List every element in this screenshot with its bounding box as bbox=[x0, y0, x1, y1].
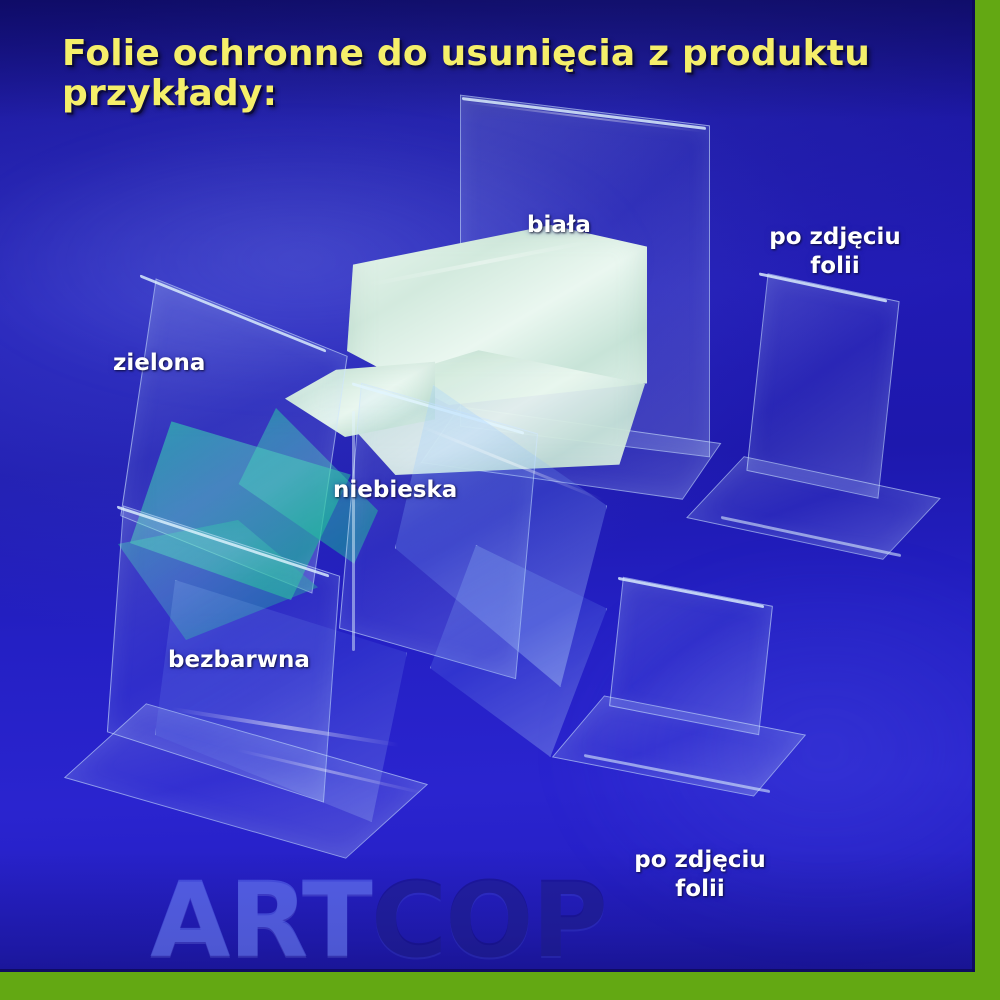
acrylic-base-plate bbox=[552, 695, 806, 796]
stand-blue-film bbox=[340, 375, 610, 765]
label-po-zdjeciu-folii-top-line2: folii bbox=[745, 252, 925, 281]
watermark-artcop: ARTCOP bbox=[150, 868, 606, 972]
acrylic-base-plate bbox=[686, 456, 941, 560]
watermark-art: ART bbox=[150, 859, 371, 981]
label-bezbarwna: bezbarwna bbox=[168, 646, 310, 675]
label-po-zdjeciu-folii-bottom-line1: po zdjęciu bbox=[600, 846, 800, 875]
title-line-1: Folie ochronne do usunięcia z produktu bbox=[62, 34, 942, 74]
stand-clear-lower-right bbox=[578, 590, 798, 810]
watermark-cop: COP bbox=[371, 859, 606, 981]
label-zielona: zielona bbox=[113, 349, 205, 378]
title-line-2: przykłady: bbox=[62, 74, 942, 114]
label-biala: biała bbox=[527, 211, 591, 240]
product-photo: ARTCOP Folie ochronne do usunięcia z pro… bbox=[0, 0, 1000, 1000]
frame-border-bottom bbox=[0, 972, 1000, 1000]
label-po-zdjeciu-folii-top: po zdjęciu folii bbox=[745, 223, 925, 281]
label-po-zdjeciu-folii-bottom-line2: folii bbox=[600, 875, 800, 904]
stand-clear-upper-right bbox=[715, 285, 925, 575]
acrylic-left-edge bbox=[352, 411, 355, 651]
frame-border-right bbox=[975, 0, 1000, 1000]
page-title: Folie ochronne do usunięcia z produktu p… bbox=[62, 34, 942, 115]
label-po-zdjeciu-folii-bottom: po zdjęciu folii bbox=[600, 846, 800, 904]
label-po-zdjeciu-folii-top-line1: po zdjęciu bbox=[745, 223, 925, 252]
label-niebieska: niebieska bbox=[333, 476, 457, 505]
